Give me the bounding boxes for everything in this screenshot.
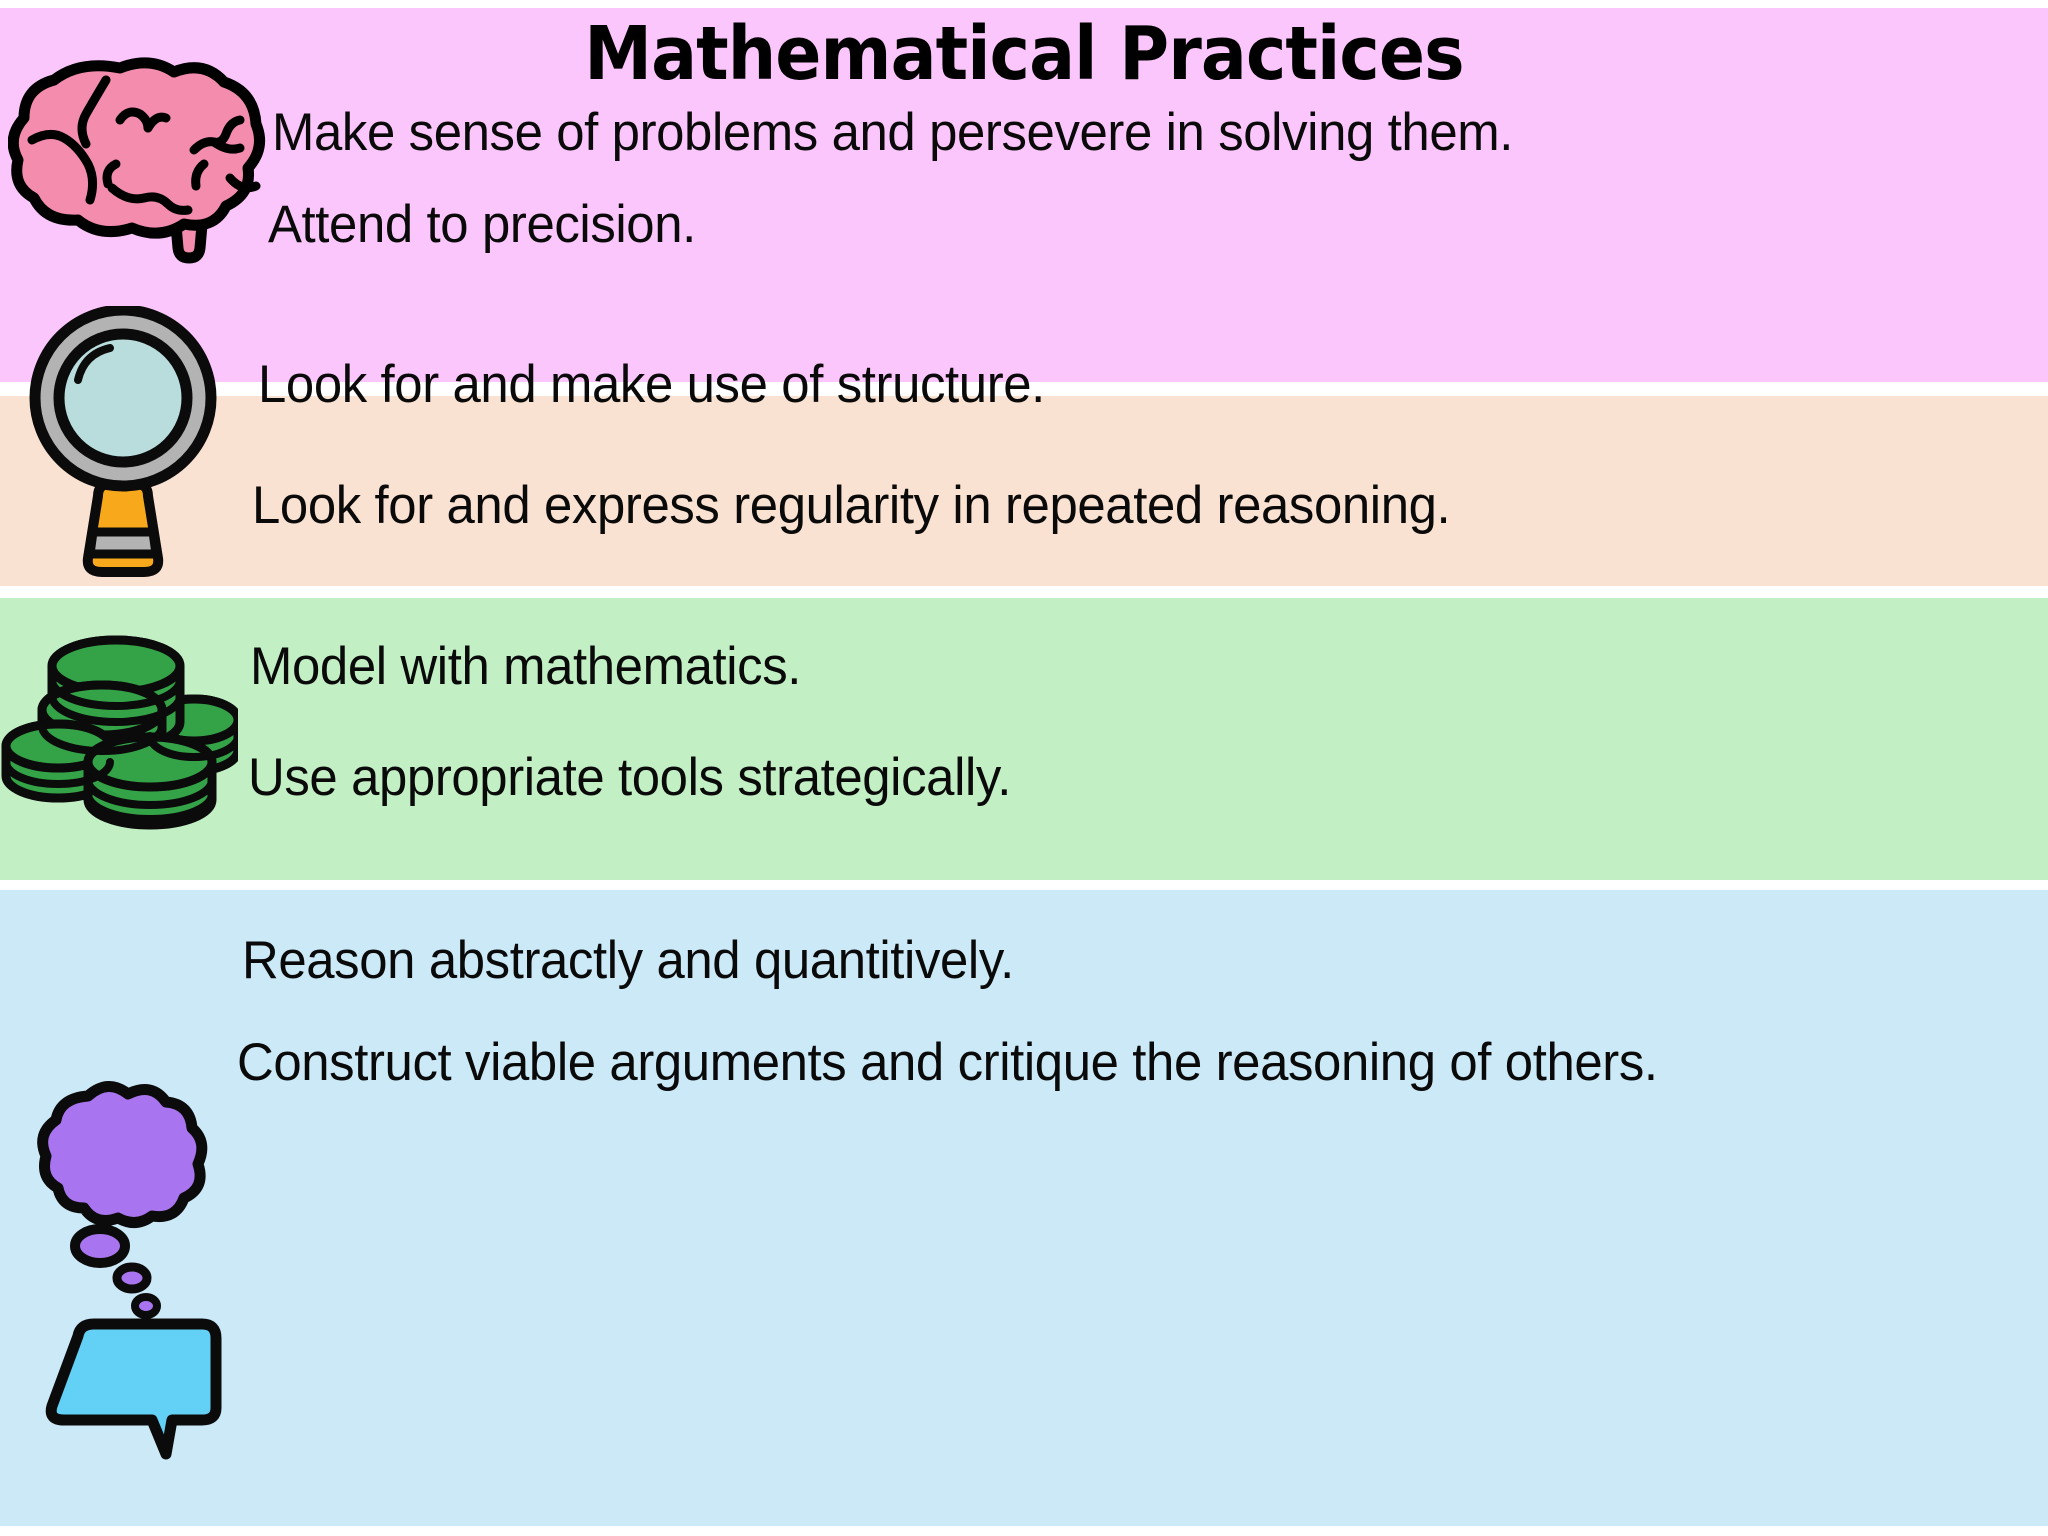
magnifier-icon [22, 306, 222, 586]
brain-icon [8, 52, 266, 264]
practice-line-model: Model with mathematics. [250, 634, 1959, 700]
practice-line-reason-abstractly: Reason abstractly and quantitively. [242, 928, 1960, 994]
practice-line-attend-precision: Attend to precision. [268, 192, 1958, 258]
practice-line-construct-arguments: Construct viable arguments and critique … [237, 1030, 1735, 1096]
practice-line-tools: Use appropriate tools strategically. [248, 745, 1966, 811]
speech-bubble [51, 1324, 216, 1454]
practice-line-regularity: Look for and express regularity in repea… [252, 473, 1970, 539]
coins-icon [0, 634, 238, 830]
practice-line-structure: Look for and make use of structure. [258, 352, 1967, 418]
thought-and-speech-bubble-icon [22, 1080, 222, 1460]
practice-line-make-sense: Make sense of problems and persevere in … [272, 100, 1962, 166]
poster-root: Mathematical Practices [0, 0, 2048, 1536]
page-title: Mathematical Practices [82, 14, 1966, 94]
thought-bubble [43, 1086, 202, 1315]
